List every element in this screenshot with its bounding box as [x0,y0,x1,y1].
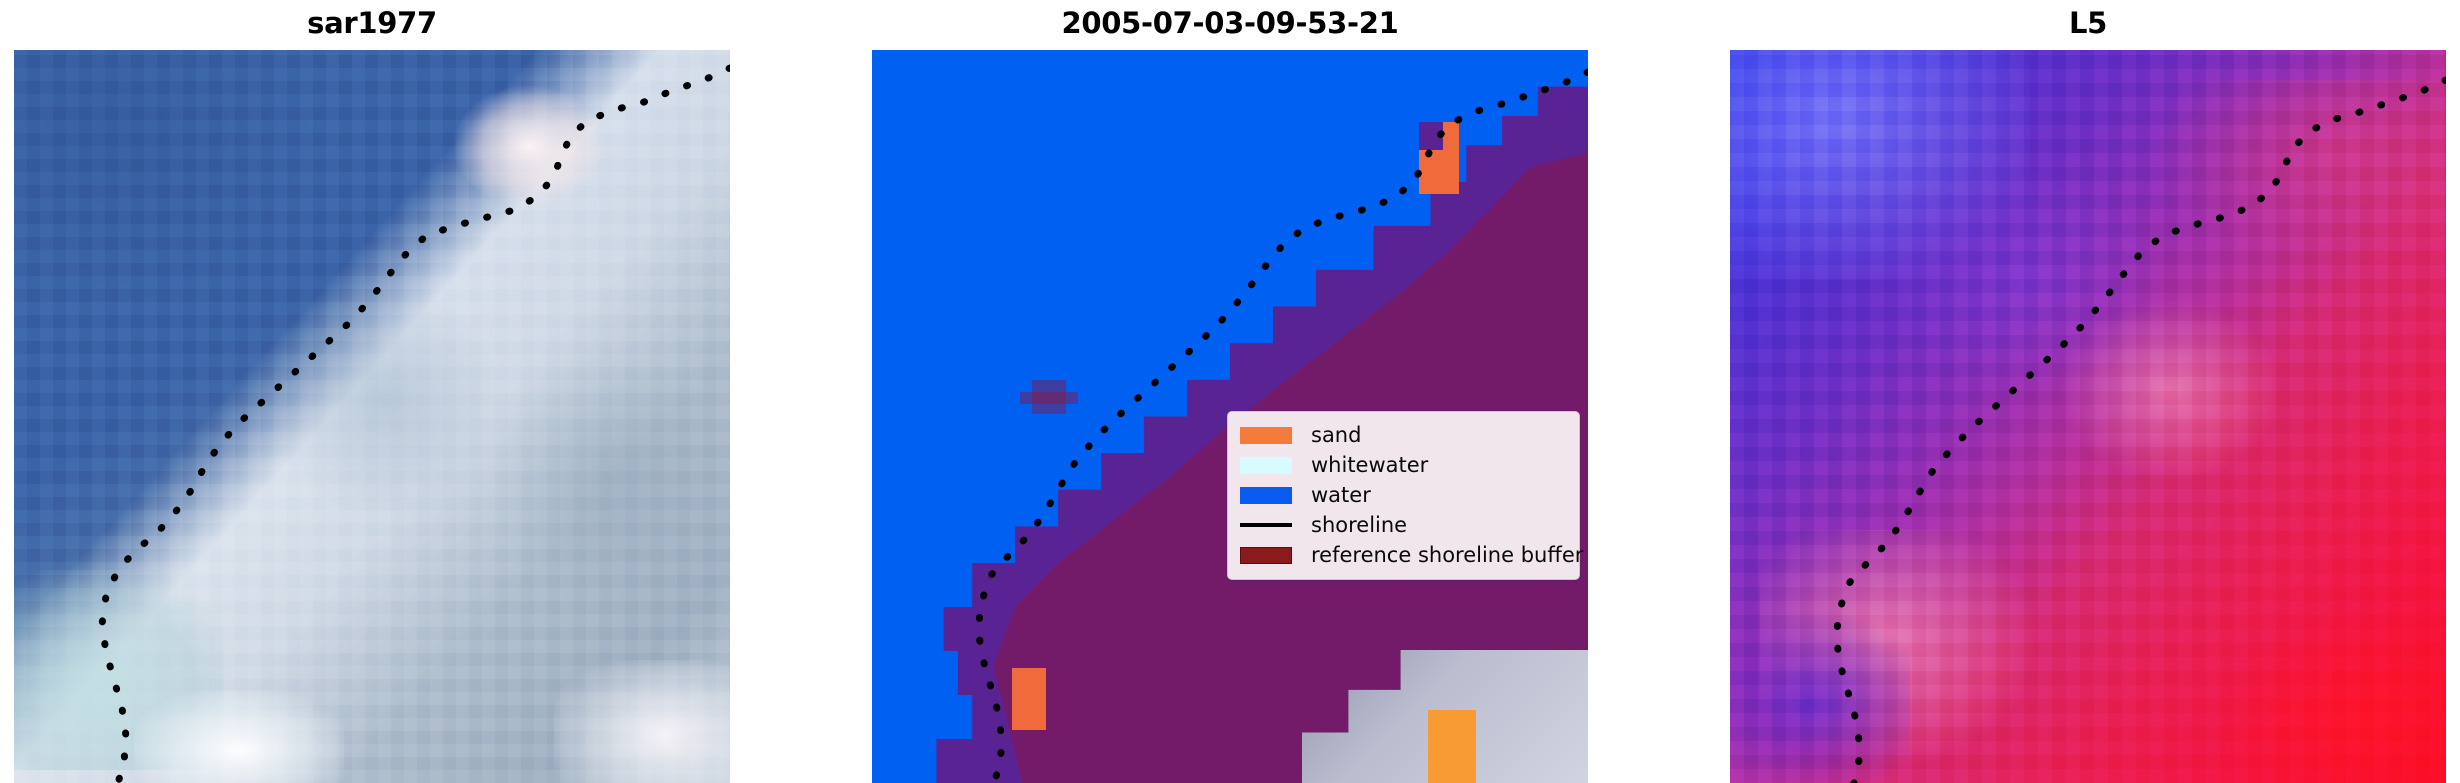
panel-title-classified: 2005-07-03-09-53-21 [872,6,1588,40]
class-buffer-island-2 [1020,392,1078,404]
sar-deepwater-patch [14,50,314,310]
sar-bright-spot [454,86,604,206]
panel-title-sar1977: sar1977 [14,6,730,40]
legend-item-sand[interactable]: sand [1240,420,1567,450]
legend-swatch-water-icon [1240,487,1292,504]
panel-title-l5: L5 [1730,6,2446,40]
l5-raster-texture [1730,50,2446,783]
figure-canvas: sar1977 2005-07-03-09-53-21 L5 [0,0,2460,783]
legend-item-shoreline[interactable]: shoreline [1240,510,1567,540]
legend-swatch-whitewater-icon [1240,457,1292,474]
sar-land-shadow-a [264,280,504,520]
sar-land-shadow-b [494,350,730,610]
panel-l5[interactable] [1730,50,2446,783]
sar-surf-patch [134,690,344,783]
legend-swatch-buffer-icon [1240,547,1292,564]
legend-item-reference-shoreline-buffer[interactable]: reference shoreline buffer [1240,540,1567,570]
legend-label-reference-shoreline-buffer: reference shoreline buffer [1311,545,1583,566]
legend-label-shoreline: shoreline [1311,515,1407,536]
class-sand-patch-notch [1419,122,1443,150]
class-sand-patch-bottom [1428,710,1476,783]
class-sand-patch-left [1012,668,1046,730]
legend-label-sand: sand [1311,425,1361,446]
map-legend[interactable]: sand whitewater water shoreline referenc… [1227,411,1580,580]
legend-item-water[interactable]: water [1240,480,1567,510]
legend-swatch-sand-icon [1240,427,1292,444]
legend-label-water: water [1311,485,1371,506]
panel-sar1977[interactable] [14,50,730,783]
legend-label-whitewater: whitewater [1311,455,1428,476]
legend-swatch-shoreline-icon [1240,523,1292,527]
sar-bright-patch-lower [554,660,730,783]
legend-item-whitewater[interactable]: whitewater [1240,450,1567,480]
